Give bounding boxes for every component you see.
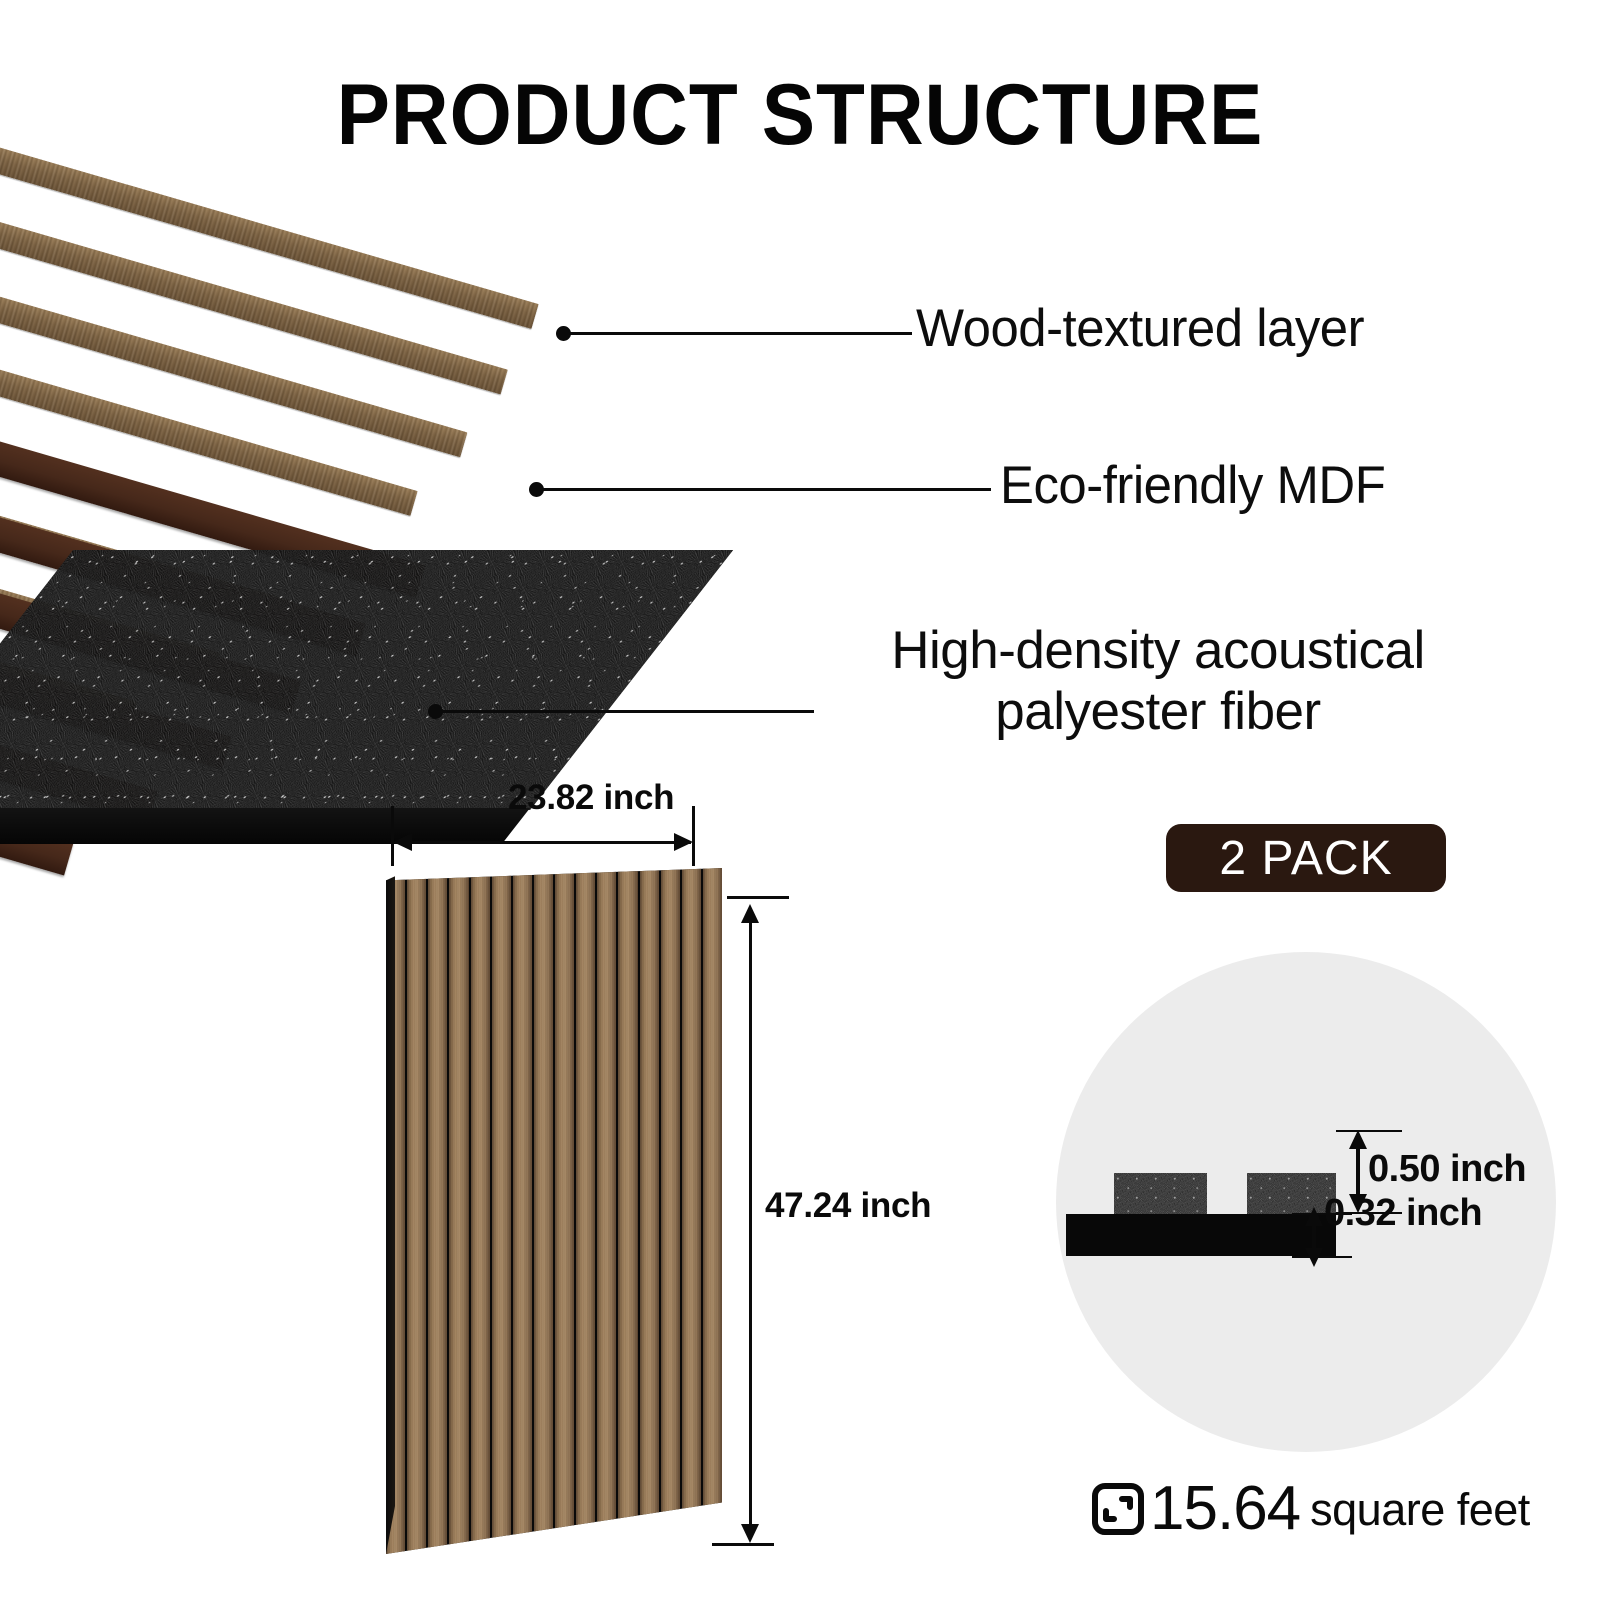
height-dim-line (749, 912, 752, 1532)
panel-slat (428, 868, 447, 1554)
slat-thickness-arrow-top (1349, 1130, 1367, 1149)
leader-line-wood-layer (568, 332, 912, 335)
slat-thickness-label: 0.50 inch (1368, 1148, 1526, 1191)
slat-panel-front-view (386, 868, 722, 1554)
width-dim-line (395, 841, 691, 844)
leader-line-mdf (541, 488, 991, 491)
callout-label-wood-textured-layer: Wood-textured layer (916, 298, 1364, 359)
coverage-area-row: 15.64 square feet (1090, 1478, 1530, 1540)
panel-slat (407, 868, 426, 1554)
base-thickness-arrow-bottom (1305, 1248, 1323, 1267)
panel-slat (597, 868, 616, 1554)
width-dimension-label: 23.82 inch (508, 778, 674, 818)
panel-slat (618, 868, 637, 1554)
panel-slat (449, 868, 468, 1554)
panel-slat (576, 868, 595, 1554)
height-dim-tick-bottom (712, 1543, 774, 1546)
panel-slat (534, 868, 553, 1554)
panel-slat (513, 868, 532, 1554)
panel-side-edge (386, 868, 395, 1554)
base-thickness-label: 0.32 inch (1324, 1192, 1482, 1235)
pack-count-badge: 2 PACK (1166, 824, 1446, 892)
coverage-area-unit: square feet (1304, 1487, 1530, 1532)
height-dim-arrow-top (741, 904, 759, 923)
callout-label-eco-friendly-mdf: Eco-friendly MDF (1000, 455, 1385, 516)
height-dim-tick-top (727, 896, 789, 899)
panel-slat (682, 868, 701, 1554)
base-thickness-arrow-top (1305, 1207, 1323, 1226)
panel-slat (492, 868, 511, 1554)
panel-slat (703, 868, 722, 1554)
height-dim-arrow-bottom (741, 1524, 759, 1543)
width-dim-arrow-right (674, 833, 693, 851)
panel-slat (555, 868, 574, 1554)
panel-slat (661, 868, 680, 1554)
coverage-area-value: 15.64 (1150, 1478, 1300, 1540)
slat-panel (386, 868, 722, 1554)
panel-slat (471, 868, 490, 1554)
width-dim-arrow-left (393, 833, 412, 851)
leader-line-acoustic-fiber (440, 710, 814, 713)
callout-label-acoustical-fiber: High-density acoustical palyester fiber (818, 620, 1498, 743)
height-dimension-label: 47.24 inch (765, 1186, 931, 1226)
cross-section-slat (1114, 1173, 1207, 1214)
expand-area-icon (1090, 1481, 1146, 1537)
pack-count-badge-label: 2 PACK (1219, 831, 1392, 886)
panel-slat (640, 868, 659, 1554)
felt-side-edge (0, 808, 530, 844)
infographic-page: PRODUCT STRUCTURE (0, 0, 1600, 1600)
acoustic-felt-base (0, 550, 530, 850)
exploded-product-stack (0, 40, 750, 870)
cross-section-felt-base (1066, 1214, 1336, 1256)
slat-thickness-guide-top (1336, 1130, 1402, 1132)
